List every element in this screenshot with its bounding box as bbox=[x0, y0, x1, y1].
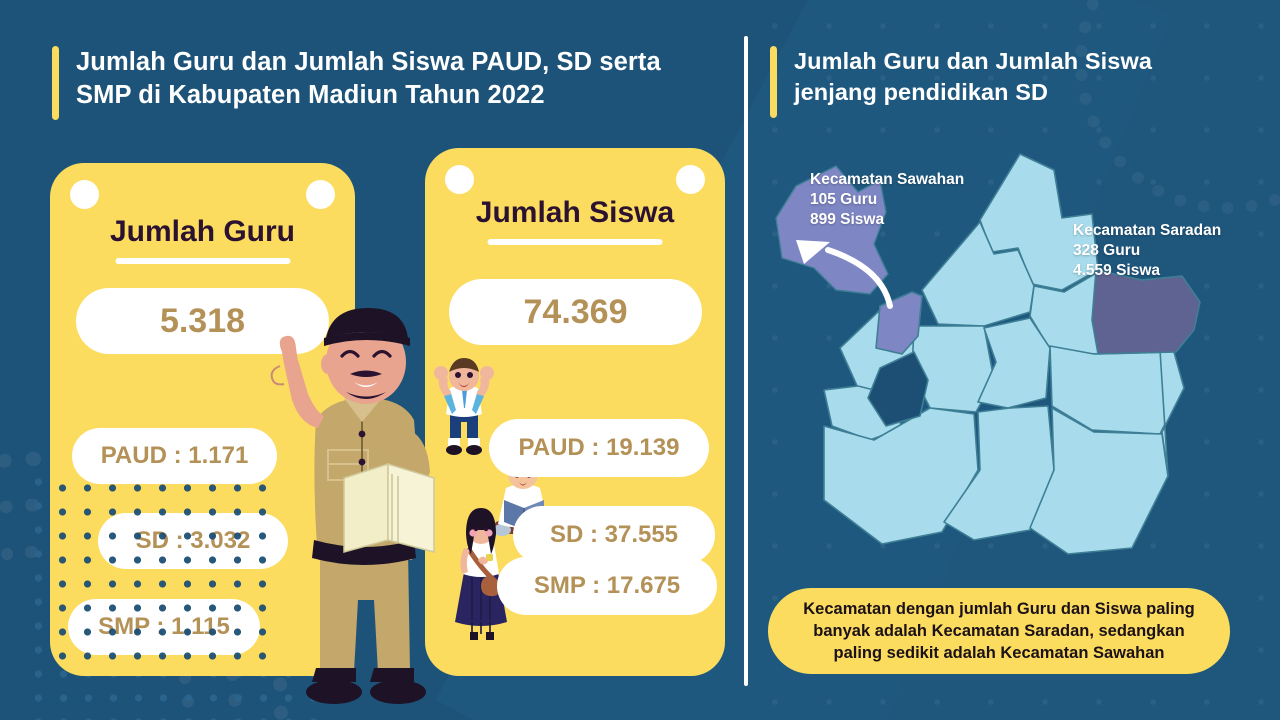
saradan-name: Kecamatan Saradan bbox=[1073, 221, 1221, 241]
card-hole-right bbox=[676, 165, 705, 194]
left-panel-title: Jumlah Guru dan Jumlah Siswa PAUD, SD se… bbox=[52, 46, 712, 120]
saradan-siswa: 4.559 Siswa bbox=[1073, 261, 1221, 281]
right-title-text: Jumlah Guru dan Jumlah Siswa jenjang pen… bbox=[794, 46, 1240, 107]
map-caption: Kecamatan dengan jumlah Guru dan Siswa p… bbox=[768, 588, 1230, 674]
title-accent-bar bbox=[770, 46, 777, 118]
card-heading-siswa: Jumlah Siswa bbox=[425, 196, 725, 230]
card-heading-rule bbox=[115, 258, 290, 264]
sawahan-guru: 105 Guru bbox=[810, 190, 964, 210]
card-heading-rule bbox=[488, 239, 663, 245]
saradan-guru: 328 Guru bbox=[1073, 241, 1221, 261]
siswa-total-pill: 74.369 bbox=[449, 279, 702, 345]
sawahan-siswa: 899 Siswa bbox=[810, 210, 964, 230]
siswa-smp-pill: SMP : 17.675 bbox=[497, 557, 717, 615]
card-hole-left bbox=[445, 165, 474, 194]
card-hole-left bbox=[70, 180, 99, 209]
left-title-text: Jumlah Guru dan Jumlah Siswa PAUD, SD se… bbox=[76, 46, 712, 112]
siswa-paud-pill: PAUD : 19.139 bbox=[489, 419, 709, 477]
card-dot-pattern bbox=[50, 476, 280, 676]
siswa-sd-pill: SD : 37.555 bbox=[513, 506, 715, 564]
title-accent-bar bbox=[52, 46, 59, 120]
infographic-canvas: Jumlah Guru dan Jumlah Siswa PAUD, SD se… bbox=[0, 0, 1280, 720]
map-label-saradan: Kecamatan Saradan 328 Guru 4.559 Siswa bbox=[1073, 221, 1221, 281]
sawahan-name: Kecamatan Sawahan bbox=[810, 170, 964, 190]
panel-divider bbox=[744, 36, 748, 686]
card-heading-guru: Jumlah Guru bbox=[50, 215, 355, 249]
card-hole-right bbox=[306, 180, 335, 209]
right-panel-title: Jumlah Guru dan Jumlah Siswa jenjang pen… bbox=[770, 46, 1240, 118]
map-label-sawahan: Kecamatan Sawahan 105 Guru 899 Siswa bbox=[810, 170, 964, 230]
